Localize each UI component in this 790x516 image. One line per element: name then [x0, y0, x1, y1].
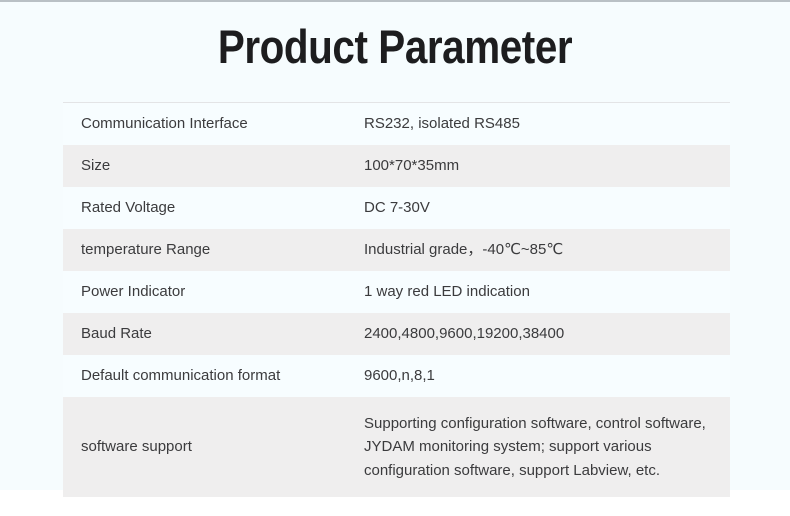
product-parameter-page: Product Parameter Communication Interfac… — [0, 0, 790, 516]
page-title: Product Parameter — [55, 22, 734, 71]
parameter-value: DC 7-30V — [364, 187, 730, 229]
parameter-value-line: JYDAM monitoring system; support various — [364, 435, 720, 458]
parameter-label: Power Indicator — [63, 271, 364, 313]
parameter-value-line: Supporting configuration software, contr… — [364, 412, 720, 435]
parameter-value: 9600,n,8,1 — [364, 355, 730, 397]
parameter-label: Baud Rate — [63, 313, 364, 355]
table-row: Size 100*70*35mm — [63, 145, 730, 187]
parameter-table: Communication Interface RS232, isolated … — [63, 102, 730, 497]
table-row: Default communication format 9600,n,8,1 — [63, 355, 730, 397]
parameter-label: software support — [63, 397, 364, 497]
table-row: Rated Voltage DC 7-30V — [63, 187, 730, 229]
parameter-value: 2400,4800,9600,19200,38400 — [364, 313, 730, 355]
parameter-label: Default communication format — [63, 355, 364, 397]
parameter-label: temperature Range — [63, 229, 364, 271]
table-row: Power Indicator 1 way red LED indication — [63, 271, 730, 313]
parameter-label: Communication Interface — [63, 103, 364, 146]
parameter-label: Rated Voltage — [63, 187, 364, 229]
parameter-value: 100*70*35mm — [364, 145, 730, 187]
parameter-value-line: configuration software, support Labview,… — [364, 459, 720, 482]
parameter-value: 1 way red LED indication — [364, 271, 730, 313]
parameter-value: Supporting configuration software, contr… — [364, 397, 730, 497]
table-row: Communication Interface RS232, isolated … — [63, 103, 730, 146]
parameter-value: Industrial grade，-40℃~85℃ — [364, 229, 730, 271]
table-row: software support Supporting configuratio… — [63, 397, 730, 497]
table-row: Baud Rate 2400,4800,9600,19200,38400 — [63, 313, 730, 355]
parameter-label: Size — [63, 145, 364, 187]
parameter-value: RS232, isolated RS485 — [364, 103, 730, 146]
table-row: temperature Range Industrial grade，-40℃~… — [63, 229, 730, 271]
